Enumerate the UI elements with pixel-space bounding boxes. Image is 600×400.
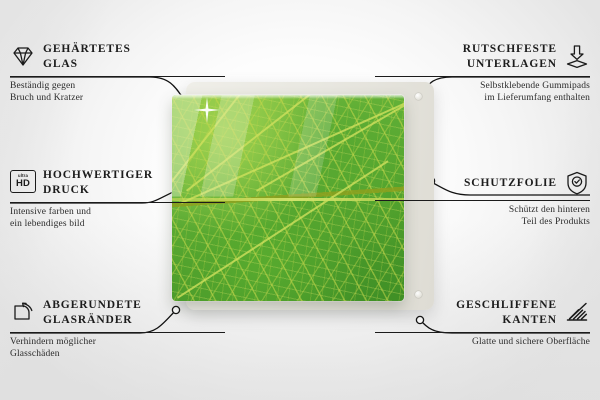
feature-hochwertiger-druck: ultra HD HOCHWERTIGER DRUCK Intensive fa… <box>10 168 225 230</box>
feature-divider <box>375 76 590 77</box>
feature-schutzfolie: SCHUTZFOLIE Schützt den hinteren Teil de… <box>375 170 590 228</box>
infographic-canvas: GEHÄRTETES GLAS Beständig gegen Bruch un… <box>0 0 600 400</box>
hatched-edge-icon <box>564 300 590 326</box>
feature-description: Beständig gegen Bruch und Kratzer <box>10 81 225 104</box>
feature-gehaertetes-glas: GEHÄRTETES GLAS Beständig gegen Bruch un… <box>10 42 225 104</box>
feature-description: Selbstklebende Gummipads im Lieferumfang… <box>375 81 590 104</box>
feature-title: GESCHLIFFENE KANTEN <box>456 298 557 328</box>
press-pad-icon <box>564 44 590 70</box>
feature-divider <box>10 76 225 77</box>
feature-description: Intensive farben und ein lebendiges bild <box>10 207 225 230</box>
feature-title: ABGERUNDETE GLASRÄNDER <box>43 298 142 328</box>
feature-rutschfeste-unterlagen: RUTSCHFESTE UNTERLAGEN Selbstklebende Gu… <box>375 42 590 104</box>
feature-divider <box>10 332 225 333</box>
feature-title: RUTSCHFESTE UNTERLAGEN <box>463 42 557 72</box>
rubber-pad-bottom-right <box>415 291 422 298</box>
feature-divider <box>375 200 590 201</box>
feature-abgerundete-glasraender: ABGERUNDETE GLASRÄNDER Verhindern möglic… <box>10 298 225 360</box>
shield-check-icon <box>564 170 590 196</box>
feature-description: Verhindern möglicher Glasschäden <box>10 337 225 360</box>
feature-title: GEHÄRTETES GLAS <box>43 42 131 72</box>
ultra-hd-badge-icon: ultra HD <box>10 170 36 196</box>
feature-title: HOCHWERTIGER DRUCK <box>43 168 153 198</box>
feature-divider <box>375 332 590 333</box>
feature-description: Glatte und sichere Oberfläche <box>375 337 590 349</box>
hd-badge-hd-label: HD <box>16 179 30 189</box>
rounded-corner-icon <box>10 300 36 326</box>
feature-geschliffene-kanten: GESCHLIFFENE KANTEN Glatte und sichere O… <box>375 298 590 349</box>
feature-divider <box>10 202 225 203</box>
feature-title: SCHUTZFOLIE <box>464 176 557 191</box>
diamond-icon <box>10 44 36 70</box>
feature-description: Schützt den hinteren Teil des Produkts <box>375 205 590 228</box>
